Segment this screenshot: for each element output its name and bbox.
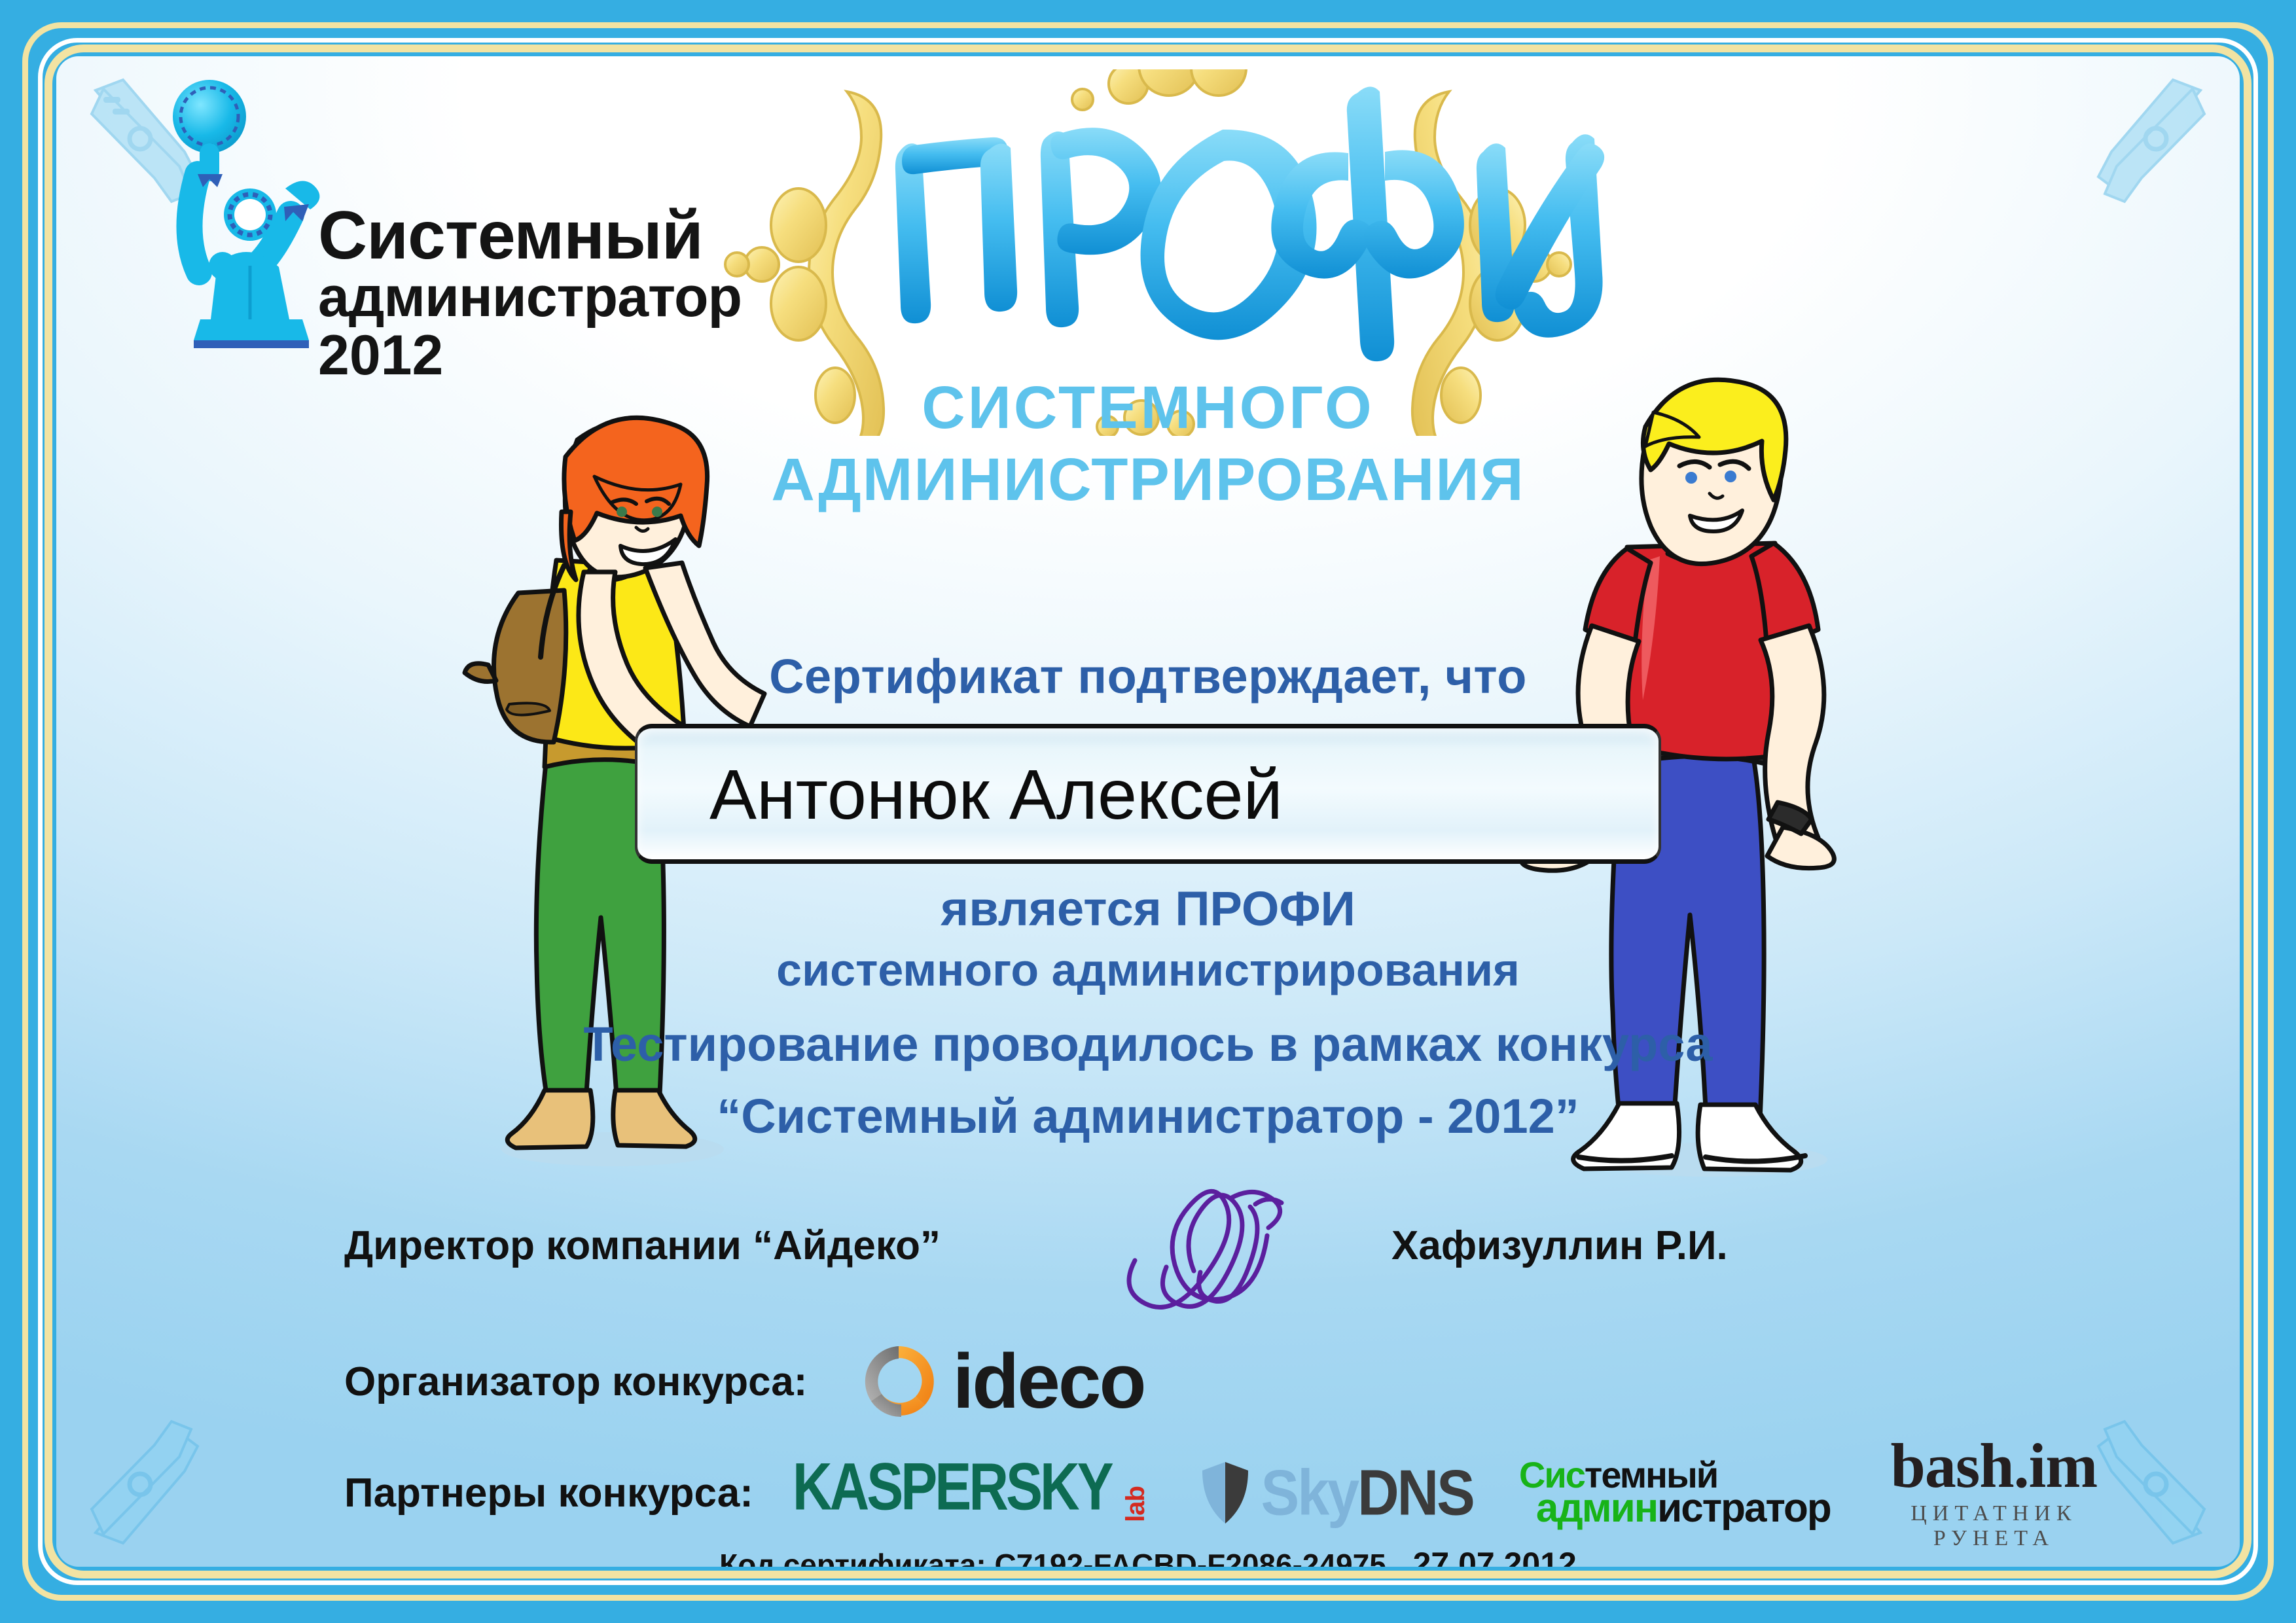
pliers-tool-icon: [69, 1359, 266, 1555]
kaspersky-logo: KASPERSKY lab: [793, 1467, 1154, 1519]
body-line-3: Тестирование проводилось в рамках конкур…: [428, 1013, 1868, 1076]
organizer-row: Организатор конкурса:: [344, 1319, 1784, 1444]
handwritten-signature-icon: [1103, 1174, 1319, 1325]
kaspersky-lab-suffix: lab: [1121, 1486, 1151, 1522]
organizer-label: Организатор конкурса:: [344, 1359, 807, 1405]
signer-name: Хафизуллин Р.И.: [1391, 1222, 1728, 1269]
partners-label: Партнеры конкурса:: [344, 1470, 753, 1516]
confirm-line: Сертификат подтверждает, что: [493, 649, 1803, 704]
certificate-page: Системный администратор 2012: [56, 56, 2240, 1567]
certificate-code-line: Код сертификата: C7192-FACBD-F2086-24975…: [363, 1545, 1933, 1567]
certificate-code-label: Код сертификата:: [719, 1548, 986, 1567]
bash-im-wordmark: bash.im: [1876, 1435, 2111, 1497]
signature-label: Директор компании “Айдеко”: [344, 1222, 941, 1269]
skydns-logo: SkyDNS: [1200, 1460, 1473, 1525]
skydns-word-sky: Sky: [1261, 1456, 1358, 1529]
sysadmin-mag-row2: администратор: [1536, 1491, 1831, 1527]
certificate-body-text: является ПРОФИ системного администрирова…: [428, 878, 1868, 1149]
certificate-date: 27.07.2012: [1413, 1546, 1577, 1567]
partner-logos: KASPERSKY lab SkyDNS Системный администр…: [793, 1435, 2111, 1551]
signature-row: Директор компании “Айдеко” Хафизуллин Р.…: [344, 1208, 1719, 1319]
ideco-wordmark: ideco: [952, 1343, 1144, 1420]
sysadmin-magazine-logo: Системный администратор: [1519, 1459, 1831, 1527]
bash-im-tagline: ЦИТАТНИК РУНЕТА: [1876, 1501, 2111, 1551]
ideco-swirl-icon: [859, 1342, 938, 1421]
recipient-name: Антонюк Алексей: [637, 753, 1283, 835]
profi-heading-block: СИСТЕМНОГО АДМИНИСТРИРОВАНИЯ: [56, 69, 2240, 573]
skydns-wordmark: SkyDNS: [1261, 1462, 1473, 1524]
profi-subtitle-1: СИСТЕМНОГО: [690, 374, 1606, 442]
body-line-4: “Системный администратор - 2012”: [428, 1085, 1868, 1148]
skydns-word-dns: DNS: [1357, 1456, 1473, 1529]
sysadmin-mag-row2-black: истратор: [1657, 1486, 1831, 1531]
recipient-name-banner: Антонюк Алексей: [635, 724, 1661, 864]
bash-im-logo: bash.im ЦИТАТНИК РУНЕТА: [1876, 1435, 2111, 1551]
body-line-1: является ПРОФИ: [428, 878, 1868, 940]
certificate-code-value: C7192-FACBD-F2086-24975: [995, 1548, 1386, 1567]
ideco-logo: ideco: [859, 1342, 1144, 1421]
shield-icon: [1200, 1460, 1251, 1525]
certificate-canvas: Системный администратор 2012: [0, 0, 2296, 1623]
partners-row: Партнеры конкурса: KASPERSKY lab SkyDNS: [344, 1434, 2111, 1552]
kaspersky-wordmark: KASPERSKY: [793, 1455, 1111, 1519]
sysadmin-mag-row2-green: админ: [1536, 1486, 1657, 1531]
body-line-2: системного администрирования: [428, 940, 1868, 1000]
